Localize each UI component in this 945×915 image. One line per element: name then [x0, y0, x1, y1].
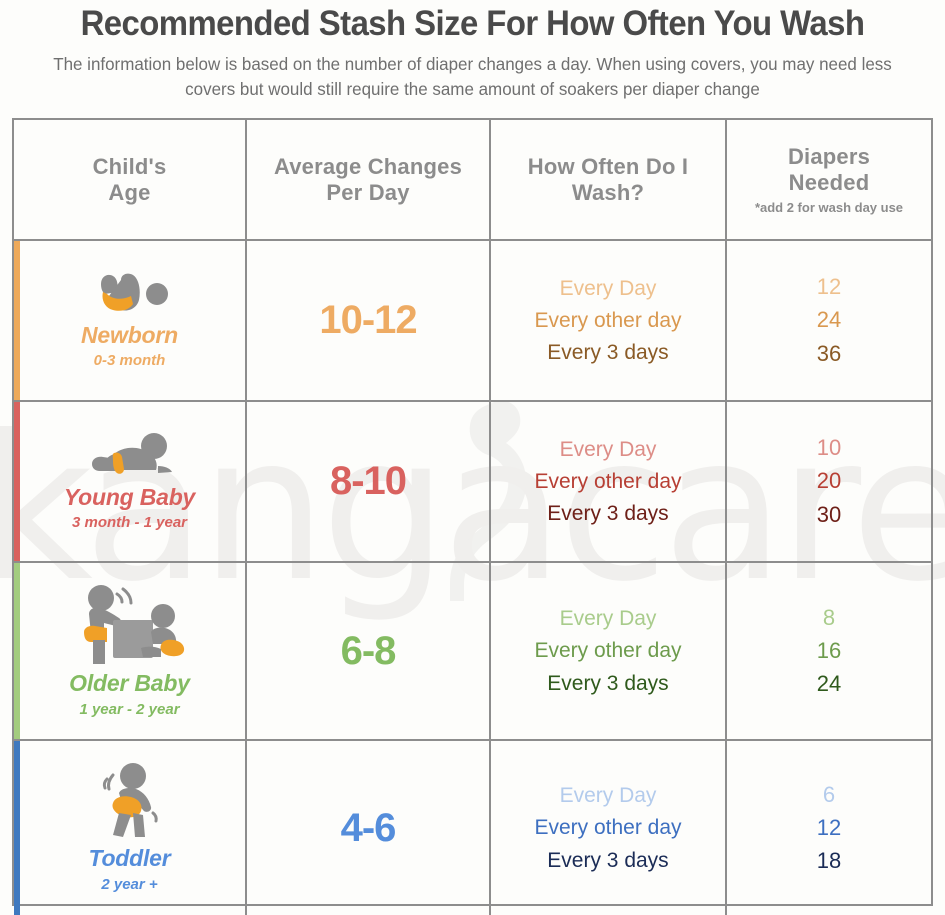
changes-per-day: 4-6 — [341, 806, 396, 851]
diapers-count: 10 — [817, 436, 841, 460]
wash-option: Every 3 days — [547, 341, 668, 364]
wash-option: Every 3 days — [547, 672, 668, 695]
wash-option: Every 3 days — [547, 849, 668, 872]
table-header-row: Child's Age Average Changes Per Day How … — [14, 120, 931, 239]
age-label: Newborn — [81, 323, 178, 348]
diapers-count: 8 — [823, 606, 835, 630]
diapers-count: 20 — [817, 469, 841, 493]
column-header-line2: Per Day — [326, 180, 409, 206]
average-changes-cell: 10-12 — [245, 241, 489, 400]
column-header-line1: Diapers — [788, 144, 870, 170]
wash-frequency-cell: Every Day Every other day Every 3 days — [489, 241, 725, 400]
column-header-line1: Average Changes — [274, 154, 462, 180]
wash-option: Every Day — [560, 784, 657, 807]
average-changes-cell: 8-10 — [245, 402, 489, 561]
row-accent-bar — [14, 241, 20, 400]
stash-size-table: Child's Age Average Changes Per Day How … — [12, 118, 933, 906]
age-label: Older Baby — [69, 671, 190, 696]
column-header-diapers-needed: Diapers Needed *add 2 for wash day use — [725, 120, 931, 239]
diapers-count: 16 — [817, 639, 841, 663]
age-label: Young Baby — [64, 485, 195, 510]
column-header-child-age: Child's Age — [14, 120, 245, 239]
wash-option: Every Day — [560, 277, 657, 300]
diapers-count: 12 — [817, 816, 841, 840]
diapers-count: 30 — [817, 503, 841, 527]
column-header-line1: Child's — [93, 154, 167, 180]
wash-option: Every 3 days — [547, 502, 668, 525]
age-range: 1 year - 2 year — [79, 701, 179, 718]
age-cell: Newborn 0-3 month — [14, 241, 245, 400]
average-changes-cell: 4-6 — [245, 741, 489, 915]
wash-option: Every other day — [534, 816, 681, 839]
column-header-how-often-wash: How Often Do I Wash? — [489, 120, 725, 239]
age-range: 2 year + — [101, 876, 157, 893]
age-cell: Young Baby 3 month - 1 year — [14, 402, 245, 561]
diapers-count: 36 — [817, 342, 841, 366]
column-header-line1: How Often Do I — [528, 154, 688, 180]
age-cell: Older Baby 1 year - 2 year — [14, 563, 245, 739]
wash-option: Every other day — [534, 309, 681, 332]
changes-per-day: 8-10 — [330, 459, 406, 504]
changes-per-day: 6-8 — [341, 629, 396, 674]
wash-option: Every other day — [534, 470, 681, 493]
swaddled-newborn-icon — [91, 272, 169, 316]
table-row: Toddler 2 year + 4-6 Every Day Every oth… — [14, 739, 931, 915]
column-header-note: *add 2 for wash day use — [755, 200, 903, 215]
age-range: 0-3 month — [94, 352, 166, 369]
playing-babies-icon — [71, 584, 189, 664]
diapers-count: 12 — [817, 275, 841, 299]
diapers-count: 24 — [817, 308, 841, 332]
crawling-baby-icon — [84, 432, 176, 478]
column-header-line2: Needed — [789, 170, 870, 196]
wash-frequency-cell: Every Day Every other day Every 3 days — [489, 741, 725, 915]
wash-option: Every Day — [560, 607, 657, 630]
column-header-average-changes: Average Changes Per Day — [245, 120, 489, 239]
row-accent-bar — [14, 741, 20, 915]
table-row: Older Baby 1 year - 2 year 6-8 Every Day… — [14, 561, 931, 739]
wash-frequency-cell: Every Day Every other day Every 3 days — [489, 402, 725, 561]
page-title: Recommended Stash Size For How Often You… — [28, 0, 916, 43]
diapers-count: 6 — [823, 783, 835, 807]
age-cell: Toddler 2 year + — [14, 741, 245, 915]
average-changes-cell: 6-8 — [245, 563, 489, 739]
diapers-needed-cell: 10 20 30 — [725, 402, 931, 561]
wash-frequency-cell: Every Day Every other day Every 3 days — [489, 563, 725, 739]
diapers-needed-cell: 12 24 36 — [725, 241, 931, 400]
row-accent-bar — [14, 563, 20, 739]
column-header-line2: Age — [108, 180, 150, 206]
walking-toddler-icon — [93, 763, 167, 839]
column-header-line2: Wash? — [572, 180, 644, 206]
wash-option: Every Day — [560, 438, 657, 461]
wash-option: Every other day — [534, 639, 681, 662]
infographic-page: kangacare Recommended Stash Size For How… — [0, 0, 945, 915]
page-subtitle: The information below is based on the nu… — [14, 43, 931, 102]
diapers-needed-cell: 6 12 18 — [725, 741, 931, 915]
table-row: Newborn 0-3 month 10-12 Every Day Every … — [14, 239, 931, 400]
row-accent-bar — [14, 402, 20, 561]
age-label: Toddler — [88, 846, 170, 871]
diapers-needed-cell: 8 16 24 — [725, 563, 931, 739]
diapers-count: 24 — [817, 672, 841, 696]
changes-per-day: 10-12 — [319, 298, 416, 343]
age-range: 3 month - 1 year — [72, 514, 187, 531]
diapers-count: 18 — [817, 849, 841, 873]
table-row: Young Baby 3 month - 1 year 8-10 Every D… — [14, 400, 931, 561]
